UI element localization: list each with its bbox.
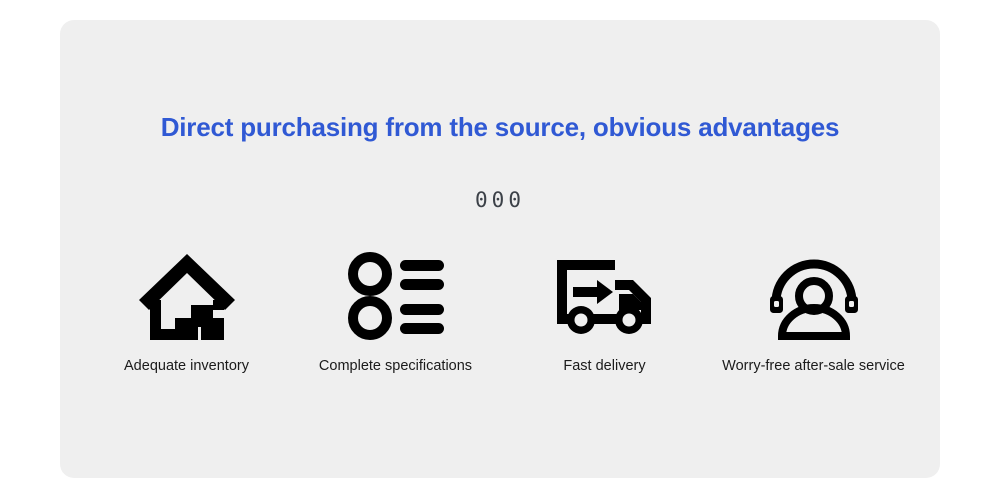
feature-label: Complete specifications [319, 358, 472, 374]
warehouse-inventory-icon [135, 248, 239, 344]
feature-label: Adequate inventory [124, 358, 249, 374]
features-row: Adequate inventory Complete specific [82, 248, 918, 374]
feature-item-specifications: Complete specifications [291, 248, 500, 374]
feature-item-delivery: Fast delivery [500, 248, 709, 374]
feature-item-after-sale: Worry-free after-sale service [709, 248, 918, 374]
feature-label: Worry-free after-sale service [722, 358, 905, 374]
customer-service-headset-icon [764, 248, 864, 344]
specification-list-icon [348, 248, 444, 344]
title-ornament: 000 [60, 190, 940, 211]
delivery-truck-icon [553, 248, 657, 344]
feature-label: Fast delivery [563, 358, 645, 374]
advantages-card: Direct purchasing from the source, obvio… [60, 20, 940, 478]
feature-item-inventory: Adequate inventory [82, 248, 291, 374]
page-title: Direct purchasing from the source, obvio… [60, 112, 940, 143]
